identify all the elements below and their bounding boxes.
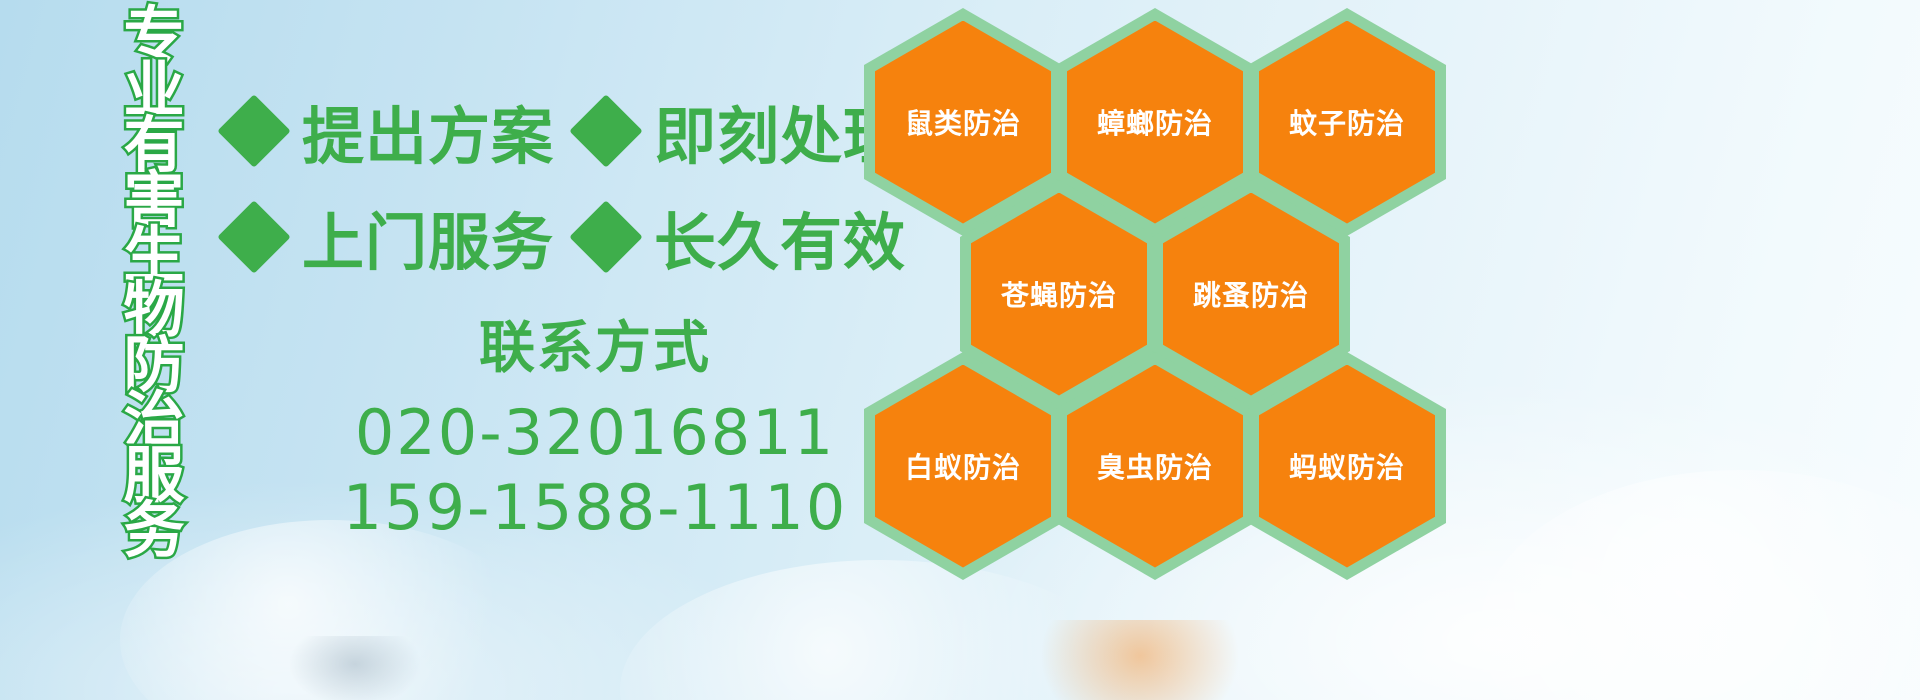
contact-phone-landline[interactable]: 020-32016811 (300, 394, 890, 472)
vertical-headline-char: 治 (123, 391, 184, 446)
vertical-headline-char: 服 (123, 446, 184, 501)
feature-item-propose-plan: 提出方案 (228, 86, 554, 176)
service-label: 苍蝇防治 (1001, 274, 1117, 314)
vertical-headline-char: 业 (123, 61, 184, 116)
vertical-headline-char: 物 (123, 281, 184, 336)
service-label: 蚂蚁防治 (1289, 446, 1405, 486)
contact-block: 联系方式 020-32016811 159-1588-1110 (300, 318, 890, 547)
hexagon-inner: 白蚁防治 (875, 365, 1051, 568)
hexagon-inner: 蚊子防治 (1259, 21, 1435, 224)
service-label: 臭虫防治 (1097, 446, 1213, 486)
vertical-headline-char: 专 (123, 6, 184, 61)
hexagon-inner: 臭虫防治 (1067, 365, 1243, 568)
background-orange-smudge (1040, 620, 1240, 700)
hexagon-inner: 蚂蚁防治 (1259, 365, 1435, 568)
diamond-bullet-icon (217, 94, 291, 168)
feature-label: 上门服务 (302, 192, 554, 282)
service-hexagon-cluster: 鼠类防治 蟑螂防治 蚊子防治 苍蝇防治 跳蚤防治 白蚁防治 (858, 0, 1458, 580)
service-label: 蟑螂防治 (1097, 102, 1213, 142)
service-label: 蚊子防治 (1289, 102, 1405, 142)
pest-control-service-banner: 专 业 有 害 生 物 防 治 服 务 提出方案 即刻处理 上门服务 (0, 0, 1920, 700)
vertical-headline-char: 有 (123, 116, 184, 171)
background-light-blob (620, 560, 1140, 700)
vertical-headline: 专 业 有 害 生 物 防 治 服 务 (106, 6, 202, 556)
feature-row: 提出方案 即刻处理 (228, 78, 868, 184)
vertical-headline-char: 防 (123, 336, 184, 391)
hexagon-inner: 蟑螂防治 (1067, 21, 1243, 224)
contact-heading: 联系方式 (300, 318, 890, 380)
diamond-bullet-icon (569, 200, 643, 274)
diamond-bullet-icon (569, 94, 643, 168)
service-label: 白蚁防治 (905, 446, 1021, 486)
background-light-blob (1480, 470, 1920, 700)
feature-list: 提出方案 即刻处理 上门服务 长久有效 (228, 78, 868, 290)
service-label: 鼠类防治 (905, 102, 1021, 142)
hexagon-inner: 苍蝇防治 (971, 193, 1147, 396)
feature-row: 上门服务 长久有效 (228, 184, 868, 290)
hexagon-inner: 鼠类防治 (875, 21, 1051, 224)
vertical-headline-char: 务 (123, 501, 184, 556)
service-label: 跳蚤防治 (1193, 274, 1309, 314)
hexagon-inner: 跳蚤防治 (1163, 193, 1339, 396)
vertical-headline-char: 生 (123, 226, 184, 281)
background-grey-smudge (290, 636, 420, 700)
vertical-headline-char: 害 (123, 171, 184, 226)
contact-phone-mobile[interactable]: 159-1588-1110 (300, 469, 890, 547)
diamond-bullet-icon (217, 200, 291, 274)
feature-label: 提出方案 (302, 86, 554, 176)
feature-item-onsite-service: 上门服务 (228, 192, 554, 282)
